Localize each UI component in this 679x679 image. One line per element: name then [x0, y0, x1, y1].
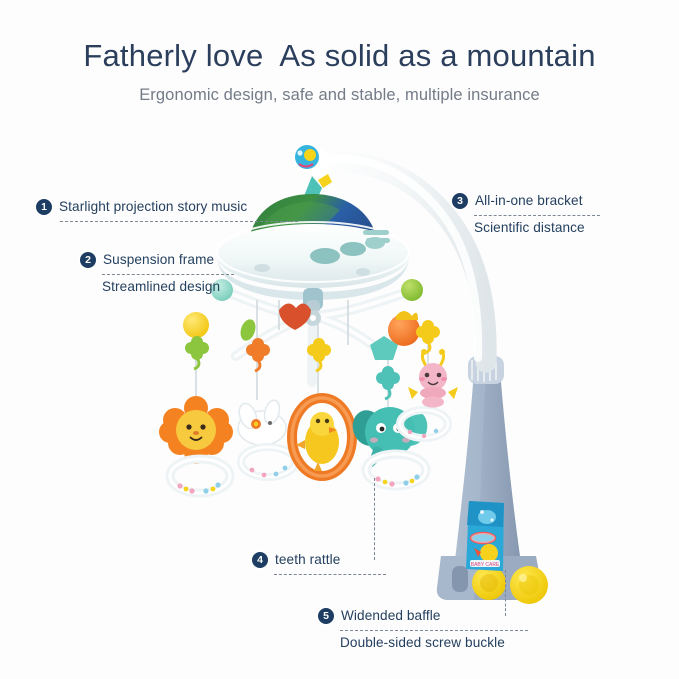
callout-2: 2 Suspension frame Streamlined design [80, 250, 234, 296]
arm-ball-green [401, 279, 423, 301]
svg-text:BABY CARE: BABY CARE [471, 562, 500, 568]
infographic-page: Fatherly love As solid as a mountain Erg… [0, 0, 679, 679]
callout-5-label: Widended baffle [341, 606, 441, 626]
callout-1-dash [60, 221, 298, 222]
callout-3-sublabel: Scientific distance [474, 218, 600, 238]
callout-5-sublabel: Double-sided screw buckle [340, 633, 528, 653]
product-illustration: BABY CARE [0, 0, 679, 679]
callout-1: 1 Starlight projection story music [36, 197, 298, 222]
post-sticker-label: BABY CARE [466, 501, 504, 571]
callout-4-badge: 4 [252, 552, 268, 568]
callout-4: 4 teeth rattle [252, 550, 386, 575]
callout-5: 5 Widended baffle Double-sided screw buc… [318, 606, 528, 652]
hanging-toy-lion [159, 396, 233, 464]
teething-rattle-ring-lion [170, 459, 230, 494]
screw-knob-right [510, 566, 548, 604]
callout-4-dash [274, 574, 386, 575]
callout-3-dash [474, 215, 600, 216]
leader-line-teeth-rattle [374, 478, 375, 560]
callout-2-badge: 2 [80, 252, 96, 268]
callout-2-sublabel: Streamlined design [102, 277, 234, 297]
callout-2-dash [102, 274, 234, 275]
top-ornament-emblem [292, 143, 326, 184]
hanging-toy-duck-ring [292, 398, 352, 476]
callout-5-badge: 5 [318, 608, 334, 624]
screw-knob-left [472, 566, 506, 600]
hanging-toy-rabbit [236, 399, 286, 445]
bead-yellow [183, 312, 209, 338]
hanging-toy-caterpillar [408, 349, 458, 408]
callout-3-label: All-in-one bracket [475, 191, 583, 211]
teething-rattle-ring-rabbit [241, 447, 295, 477]
callout-3-badge: 3 [452, 193, 468, 209]
callout-3: 3 All-in-one bracket Scientific distance [452, 191, 600, 237]
bead-clover-green [185, 336, 209, 369]
callout-1-badge: 1 [36, 199, 52, 215]
teething-rattle-ring-elephant [366, 454, 426, 487]
callout-4-label: teeth rattle [275, 550, 340, 570]
callout-2-label: Suspension frame [103, 250, 214, 270]
callout-1-label: Starlight projection story music [59, 197, 247, 217]
callout-5-dash [340, 630, 528, 631]
